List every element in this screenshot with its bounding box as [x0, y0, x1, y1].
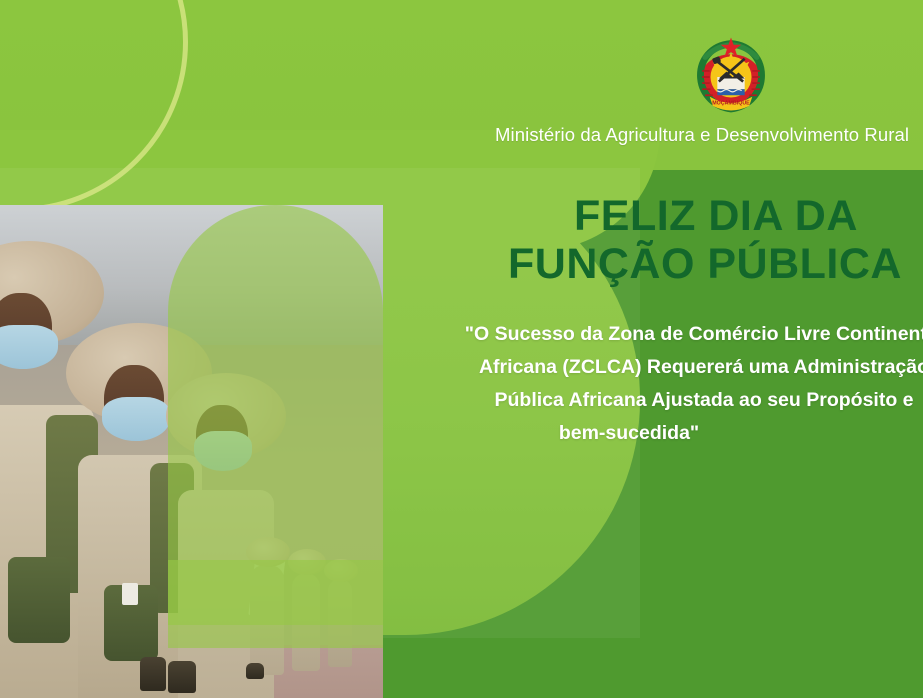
theme-quote-line-4: bem-sucedida" [424, 417, 923, 450]
photo-hat [246, 537, 290, 567]
page-title-line-2: FUNÇÃO PÚBLICA [508, 240, 923, 288]
photo-boot [246, 663, 264, 679]
field-workers-photo [0, 205, 383, 698]
photo-figure [292, 573, 320, 671]
theme-quote-line-3: Pública Africana Ajustada ao seu Propósi… [424, 384, 923, 417]
theme-quote-line-1: "O Sucesso da Zona de Comércio Livre Con… [424, 318, 923, 351]
photo-boot [168, 661, 196, 693]
theme-quote: "O Sucesso da Zona de Comércio Livre Con… [424, 318, 923, 450]
photo-canteen [8, 557, 70, 643]
mozambique-coat-of-arms-icon: MOÇAMBIQUE [693, 34, 769, 120]
photo-figure [328, 579, 352, 667]
photo-hat [324, 559, 358, 582]
photo-figure [250, 565, 284, 675]
ministry-name: Ministério da Agricultura e Desenvolvime… [495, 124, 909, 146]
photo-face-mask [194, 431, 252, 471]
page-title: FELIZ DIA DA FUNÇÃO PÚBLICA [508, 192, 923, 288]
public-service-day-banner: MOÇAMBIQUE Ministério da Agricultura e D… [0, 0, 923, 698]
photo-face-mask [102, 397, 170, 441]
page-title-line-1: FELIZ DIA DA [508, 192, 923, 240]
photo-paper [122, 583, 138, 605]
theme-quote-line-2: Africana (ZCLCA) Requererá uma Administr… [424, 351, 923, 384]
svg-text:MOÇAMBIQUE: MOÇAMBIQUE [712, 100, 750, 106]
photo-boot [140, 657, 166, 691]
photo-hat [288, 549, 326, 575]
